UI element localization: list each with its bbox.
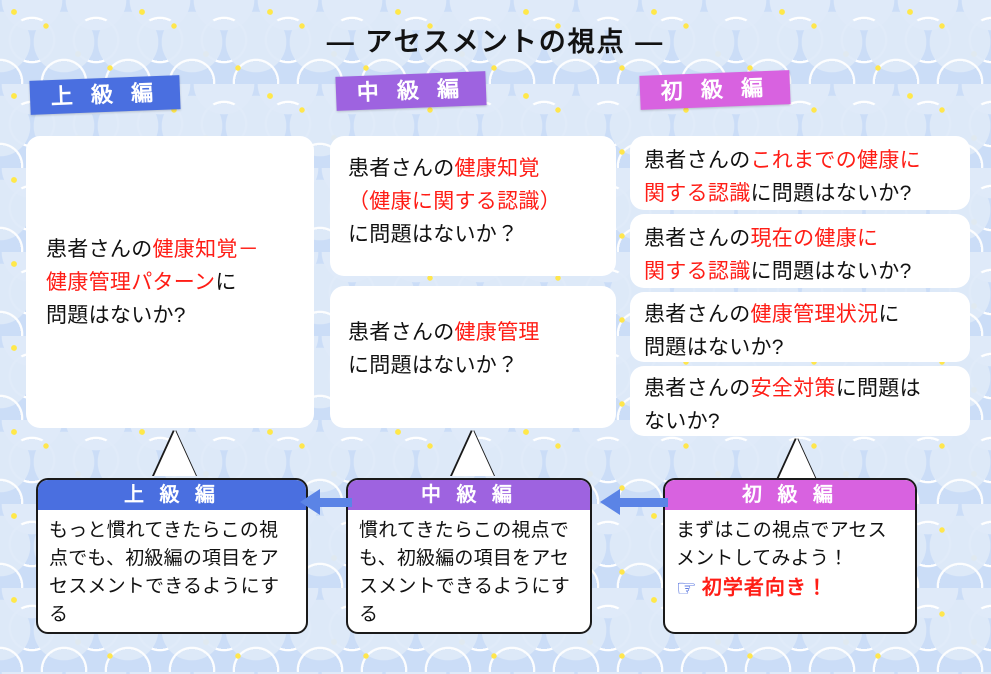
guidance-card-header: 上 級 編 — [38, 480, 306, 510]
text-segment: に問題はないか? — [751, 260, 912, 283]
text-segment-highlight: 健康管理状況 — [751, 303, 879, 326]
text-segment: に問題はないか? — [751, 182, 912, 205]
text-segment: 問題はないか? — [46, 304, 186, 327]
assessment-card-beginner-1: 患者さんのこれまでの健康に 関する認識に問題はないか? — [630, 136, 970, 210]
guidance-card-advanced: 上 級 編 もっと慣れてきたらこの視点でも、初級編の項目をアセスメントできるよう… — [36, 478, 308, 634]
assessment-card-beginner-4: 患者さんの安全対策に問題は ないか? — [630, 366, 970, 436]
arrow-shaft — [616, 498, 668, 507]
text-segment: に問題は — [836, 377, 921, 400]
text-segment-highlight: これまでの健康に — [751, 149, 921, 172]
assessment-card-beginner-2: 患者さんの現在の健康に 関する認識に問題はないか? — [630, 214, 970, 288]
level-banner-advanced: 上 級 編 — [29, 75, 180, 115]
assessment-card-text: 患者さんのこれまでの健康に 関する認識に問題はないか? — [644, 144, 956, 210]
text-segment-highlight: 健康管理パターン — [46, 271, 215, 294]
guidance-card-body: もっと慣れてきたらこの視点でも、初級編の項目をアセスメントできるようにする — [38, 510, 306, 634]
text-segment: 患者さんの — [644, 303, 751, 326]
flow-arrow-intermediate-to-advanced — [300, 489, 352, 515]
guidance-card-header: 中 級 編 — [348, 480, 590, 510]
pointing-hand-icon: ☞ — [676, 577, 697, 600]
guidance-card-body: 慣れてきたらこの視点でも、初級編の項目をアセスメントできるようにする — [348, 510, 590, 634]
level-banner-intermediate: 中 級 編 — [335, 71, 486, 111]
text-segment: 患者さんの — [348, 157, 455, 180]
guidance-card-intermediate: 中 級 編 慣れてきたらこの視点でも、初級編の項目をアセスメントできるようにする — [346, 478, 592, 634]
text-segment: に問題はないか？ — [348, 223, 518, 246]
text-segment-highlight: 安全対策 — [751, 377, 836, 400]
text-segment-highlight: 健康知覚－ — [153, 238, 260, 261]
page-title: — アセスメントの視点 — — [0, 20, 991, 59]
assessment-card-text: 患者さんの現在の健康に 関する認識に問題はないか? — [644, 222, 956, 288]
assessment-card-text: 患者さんの健康知覚－ 健康管理パターンに 問題はないか? — [46, 233, 259, 332]
text-segment-highlight: 関する認識 — [644, 182, 751, 205]
callout-pointer-advanced — [154, 430, 196, 476]
level-banner-beginner: 初 級 編 — [639, 70, 790, 110]
text-segment: ないか? — [644, 410, 720, 433]
guidance-card-beginner: 初 級 編 まずはこの視点でアセスメントしてみよう！ ☞ 初学者向き！ — [663, 478, 917, 634]
text-segment-highlight: 健康知覚 — [455, 157, 540, 180]
guidance-card-header: 初 級 編 — [665, 480, 915, 510]
text-segment: 患者さんの — [644, 227, 751, 250]
assessment-card-advanced: 患者さんの健康知覚－ 健康管理パターンに 問題はないか? — [26, 136, 314, 428]
callout-pointer-intermediate — [452, 430, 494, 476]
assessment-card-beginner-3: 患者さんの健康管理状況に 問題はないか? — [630, 292, 970, 362]
arrow-shaft — [316, 498, 352, 507]
text-segment: に — [878, 303, 899, 326]
flow-arrow-beginner-to-intermediate — [600, 489, 668, 515]
text-segment: に問題はないか？ — [348, 354, 518, 377]
text-segment: 患者さんの — [46, 238, 153, 261]
diagram-canvas: — アセスメントの視点 — 上 級 編 中 級 編 初 級 編 患者さんの健康知… — [0, 0, 991, 674]
assessment-card-intermediate-2: 患者さんの健康管理 に問題はないか？ — [330, 286, 616, 428]
beginner-hint-text: 初学者向き！ — [702, 574, 828, 602]
assessment-card-text: 患者さんの健康管理状況に 問題はないか? — [644, 298, 956, 364]
text-segment: 患者さんの — [348, 321, 455, 344]
guidance-card-text: まずはこの視点でアセスメントしてみよう！ — [676, 517, 904, 573]
assessment-card-text: 患者さんの安全対策に問題は ないか? — [644, 372, 956, 438]
guidance-card-body: まずはこの視点でアセスメントしてみよう！ ☞ 初学者向き！ — [665, 510, 915, 608]
beginner-hint: ☞ 初学者向き！ — [676, 574, 904, 602]
assessment-card-text: 患者さんの健康知覚 （健康に関する認識） に問題はないか？ — [348, 152, 598, 251]
text-segment-highlight: 健康管理 — [455, 321, 540, 344]
text-segment: に — [215, 271, 236, 294]
text-segment: 問題はないか? — [644, 336, 784, 359]
assessment-card-intermediate-1: 患者さんの健康知覚 （健康に関する認識） に問題はないか？ — [330, 136, 616, 276]
text-segment: 患者さんの — [644, 149, 751, 172]
assessment-card-text: 患者さんの健康管理 に問題はないか？ — [348, 316, 598, 382]
text-segment: 患者さんの — [644, 377, 751, 400]
text-segment-highlight: 関する認識 — [644, 260, 751, 283]
text-segment-highlight: 現在の健康に — [751, 227, 879, 250]
text-segment-highlight: （健康に関する認識） — [348, 190, 561, 213]
